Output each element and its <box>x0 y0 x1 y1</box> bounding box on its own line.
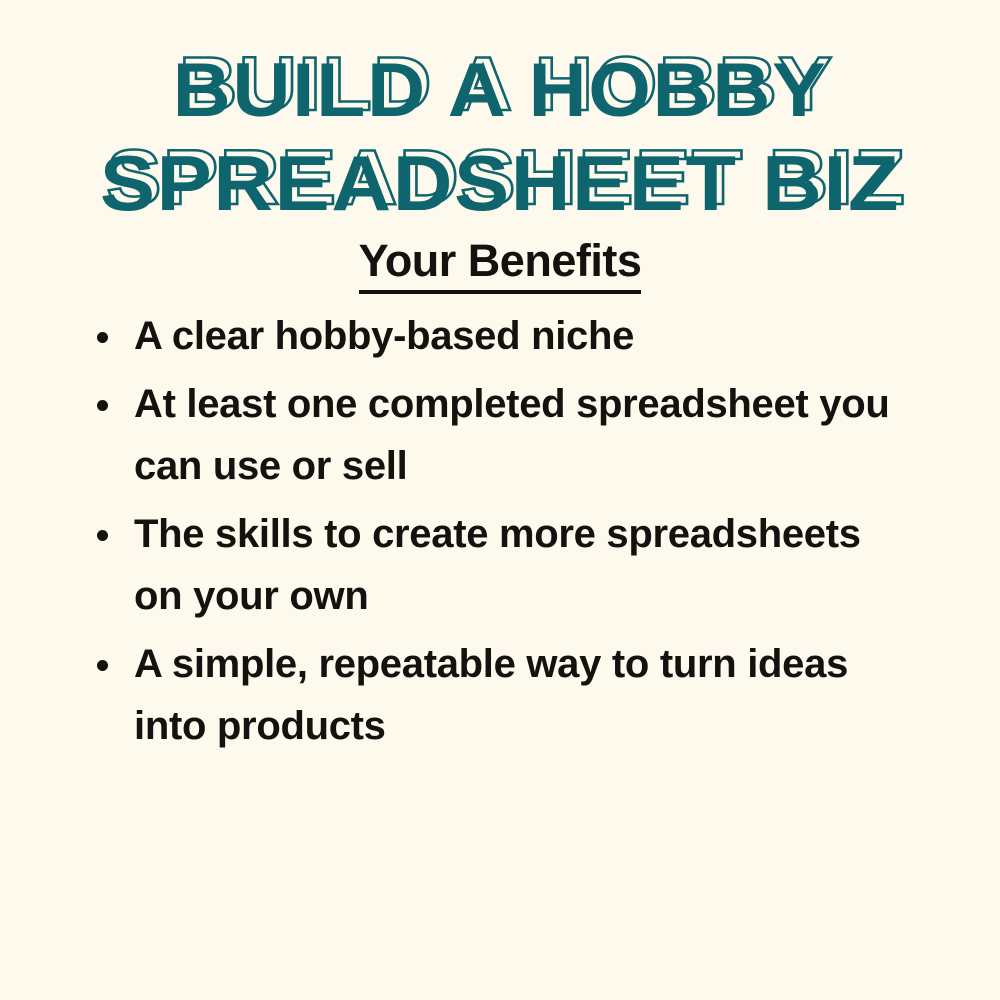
benefits-list: A clear hobby-based niche At least one c… <box>88 305 918 763</box>
bullet-dot-icon <box>97 400 108 411</box>
list-item-label: At least one completed spreadsheet you c… <box>134 373 918 497</box>
subtitle-container: Your Benefits <box>0 237 1000 294</box>
list-item: The skills to create more spreadsheets o… <box>88 503 918 627</box>
list-item: A clear hobby-based niche <box>88 305 918 367</box>
title-line-2: SPREADSHEET BIZ SPREADSHEET BIZ <box>0 138 1000 228</box>
bullet-dot-icon <box>97 332 108 343</box>
list-item: A simple, repeatable way to turn ideas i… <box>88 633 918 757</box>
bullet-dot-icon <box>97 530 108 541</box>
list-item-label: A clear hobby-based niche <box>134 305 918 367</box>
list-item-label: A simple, repeatable way to turn ideas i… <box>134 633 918 757</box>
bullet-dot-icon <box>97 660 108 671</box>
title-block: BUILD A HOBBY BUILD A HOBBY SPREADSHEET … <box>0 46 1000 228</box>
list-item: At least one completed spreadsheet you c… <box>88 373 918 497</box>
title-line-1: BUILD A HOBBY BUILD A HOBBY <box>0 46 1000 136</box>
subtitle-heading: Your Benefits <box>359 237 642 294</box>
list-item-label: The skills to create more spreadsheets o… <box>134 503 918 627</box>
poster-canvas: BUILD A HOBBY BUILD A HOBBY SPREADSHEET … <box>0 0 1000 1000</box>
title-line-1-text: BUILD A HOBBY <box>173 48 828 133</box>
title-line-2-text: SPREADSHEET BIZ <box>100 139 900 227</box>
